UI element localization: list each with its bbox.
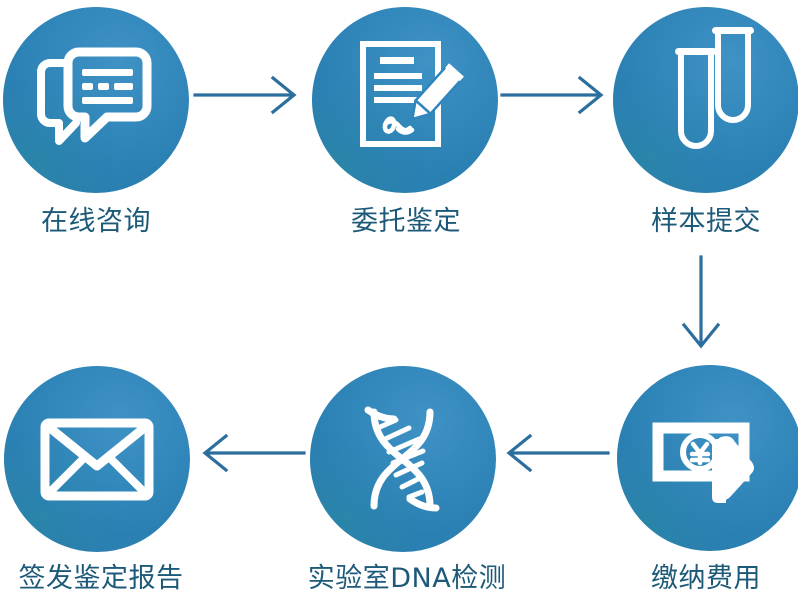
dna-helix-icon xyxy=(310,366,496,552)
step-label-1: 在线咨询 xyxy=(0,205,192,239)
flow-arrow-down-1 xyxy=(678,255,724,355)
envelope-icon xyxy=(4,366,190,552)
flow-step-node-6[interactable] xyxy=(4,366,190,552)
step-label-3: 样本提交 xyxy=(610,205,798,239)
step-label-5: 实验室DNA检测 xyxy=(282,562,532,596)
step-label-4: 缴纳费用 xyxy=(610,562,798,596)
step-label-6: 签发鉴定报告 xyxy=(0,562,212,596)
flow-step-node-5[interactable] xyxy=(310,366,496,552)
test-tubes-icon xyxy=(613,7,798,193)
flow-arrow-right-1 xyxy=(193,72,303,118)
flow-arrow-right-2 xyxy=(500,72,610,118)
document-signature-icon xyxy=(312,7,498,193)
flow-step-node-4[interactable] xyxy=(617,365,798,551)
flow-step-node-2[interactable] xyxy=(312,7,498,193)
flow-arrow-left-2 xyxy=(196,430,306,476)
flow-diagram-canvas: 在线咨询 xyxy=(0,0,798,600)
step-label-2: 委托鉴定 xyxy=(310,205,502,239)
hand-banknote-yen-icon xyxy=(617,365,798,551)
chat-bubbles-icon xyxy=(3,7,189,193)
flow-arrow-left-1 xyxy=(500,430,610,476)
flow-step-node-1[interactable] xyxy=(3,7,189,193)
flow-step-node-3[interactable] xyxy=(613,7,798,193)
